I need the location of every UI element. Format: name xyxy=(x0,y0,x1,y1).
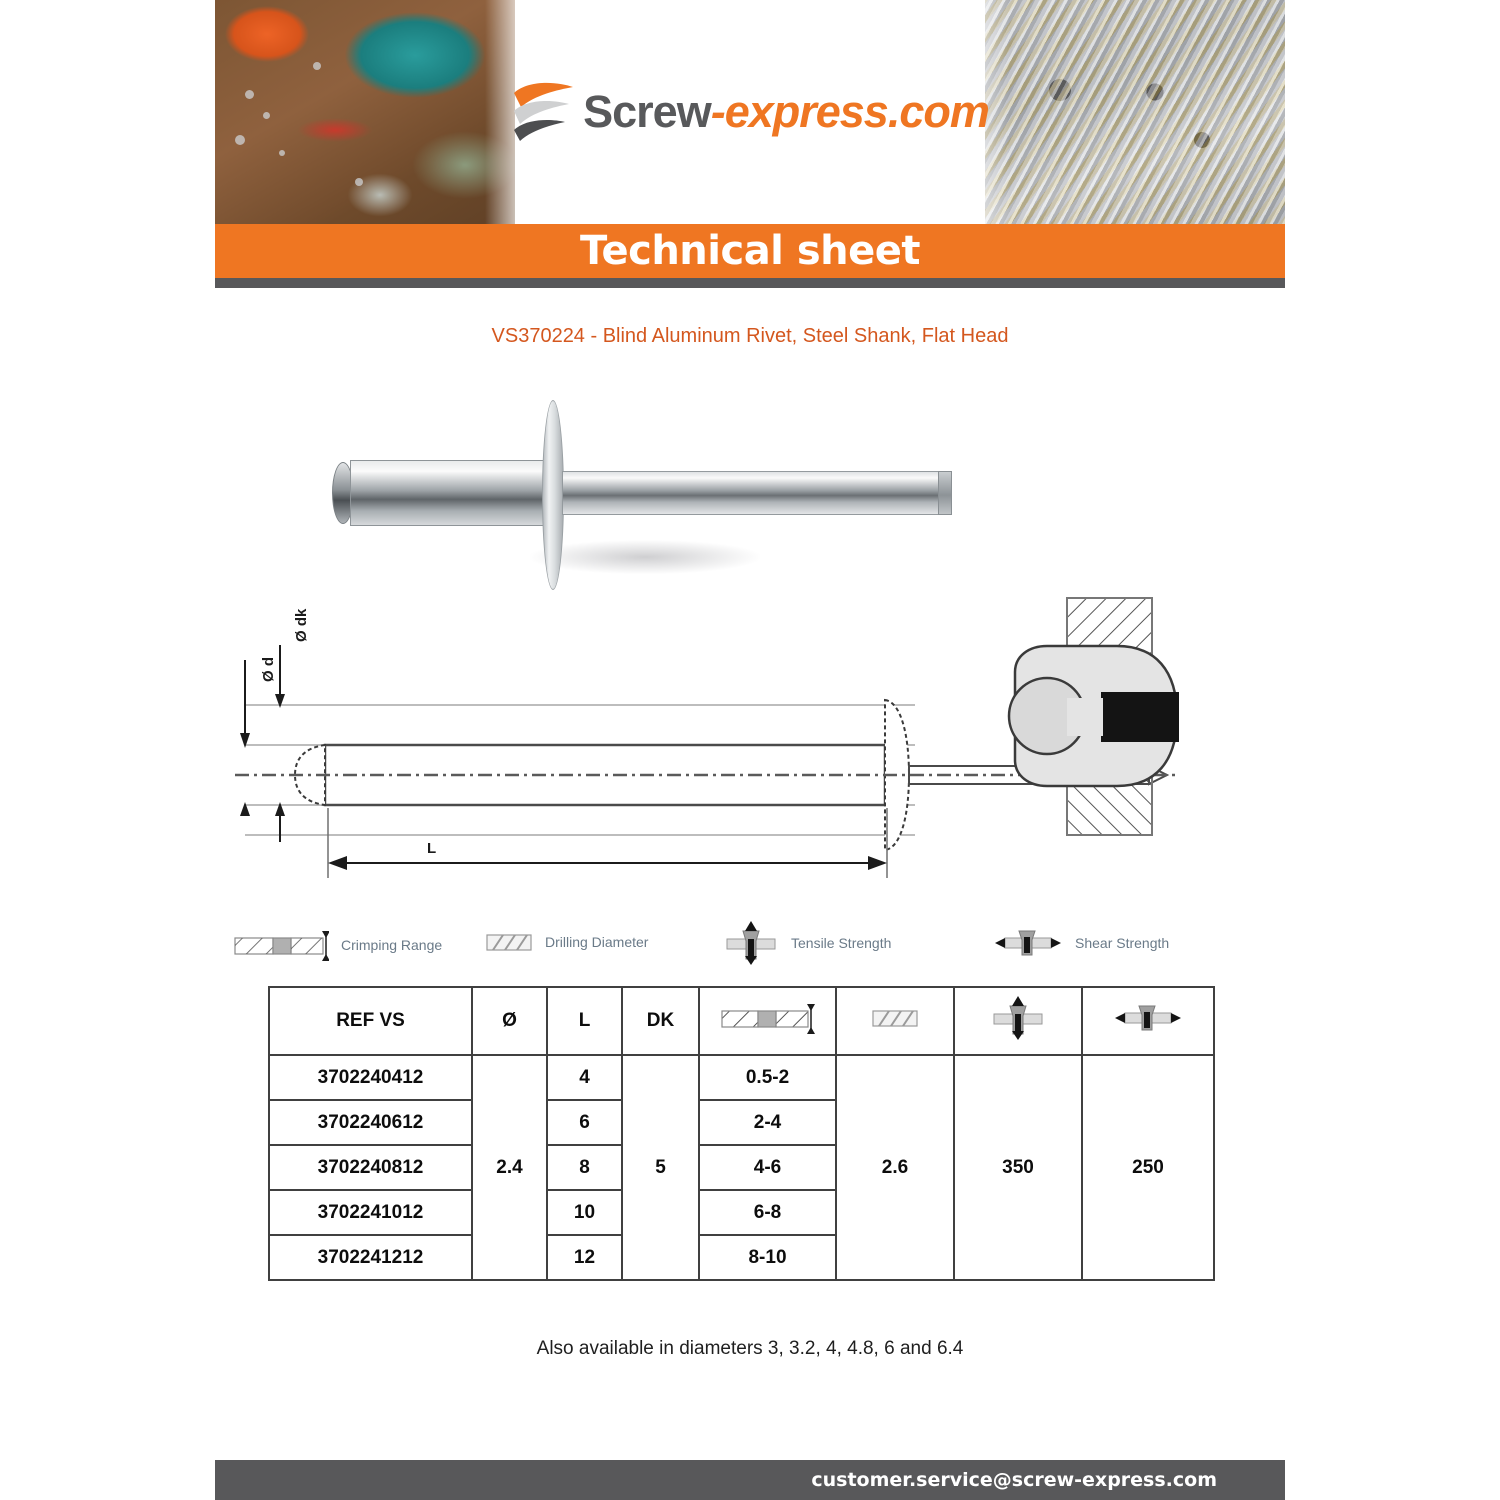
tensile-strength-icon xyxy=(990,994,1046,1042)
table-row: 3702240412 2.4 4 5 0.5-2 2.6 350 250 xyxy=(269,1055,1214,1100)
cell-crimping: 0.5-2 xyxy=(699,1055,836,1100)
cell-ref: 3702240812 xyxy=(269,1145,472,1190)
column-header-crimping-range xyxy=(699,987,836,1055)
cell-dk: 5 xyxy=(622,1055,699,1280)
swoosh-logo-icon xyxy=(511,81,577,143)
legend-item-shear-strength: Shear Strength xyxy=(993,925,1169,961)
cell-ref: 3702241212 xyxy=(269,1235,472,1280)
tensile-strength-icon xyxy=(723,919,779,967)
column-header-shear-strength xyxy=(1082,987,1214,1055)
banner-underbar xyxy=(215,278,1285,288)
cell-tensile: 350 xyxy=(954,1055,1082,1280)
crimping-range-icon xyxy=(720,1000,816,1036)
cell-drilling: 2.6 xyxy=(836,1055,954,1280)
legend-row: Crimping Range Drilling Diameter Tensile… xyxy=(215,915,1285,971)
logo[interactable]: Screw-express.com xyxy=(515,0,985,224)
legend-item-crimping-range: Crimping Range xyxy=(233,927,442,963)
specification-table: REF VS Ø L DK xyxy=(268,986,1215,1281)
availability-note: Also available in diameters 3, 3.2, 4, 4… xyxy=(215,1338,1285,1360)
screws-photo xyxy=(940,0,1285,224)
drilling-diameter-icon xyxy=(485,927,533,957)
column-header-drilling-diameter xyxy=(836,987,954,1055)
legend-label-crimping-range: Crimping Range xyxy=(341,937,442,953)
technical-sheet-page: Screw-express.com Technical sheet VS3702… xyxy=(215,0,1285,1500)
column-header-tensile-strength xyxy=(954,987,1082,1055)
legend-label-tensile-strength: Tensile Strength xyxy=(791,935,891,951)
cell-ref: 3702240612 xyxy=(269,1100,472,1145)
product-title: VS370224 - Blind Aluminum Rivet, Steel S… xyxy=(215,325,1285,348)
footer-email[interactable]: customer.service@screw-express.com xyxy=(811,1469,1217,1491)
logo-text-dark: Screw xyxy=(583,86,711,137)
cell-diameter: 2.4 xyxy=(472,1055,547,1280)
technical-drawing: Ø d Ø dk L xyxy=(215,590,1285,910)
crimping-range-icon xyxy=(233,927,329,963)
cell-ref: 3702241012 xyxy=(269,1190,472,1235)
workbench-photo xyxy=(215,0,545,224)
cell-length: 6 xyxy=(547,1100,622,1145)
cell-crimping: 2-4 xyxy=(699,1100,836,1145)
cell-length: 10 xyxy=(547,1190,622,1235)
column-header-dk: DK xyxy=(622,987,699,1055)
cell-crimping: 6-8 xyxy=(699,1190,836,1235)
column-header-diameter: Ø xyxy=(472,987,547,1055)
footer-bar: customer.service@screw-express.com xyxy=(215,1460,1285,1500)
shear-strength-icon xyxy=(993,925,1063,961)
cell-crimping: 8-10 xyxy=(699,1235,836,1280)
header-banner: Screw-express.com xyxy=(215,0,1285,224)
cell-shear: 250 xyxy=(1082,1055,1214,1280)
drilling-diameter-icon xyxy=(871,1003,919,1033)
logo-text-orange: -express.com xyxy=(711,86,989,137)
technical-sheet-banner: Technical sheet xyxy=(215,224,1285,278)
product-photo xyxy=(290,380,1050,610)
cell-length: 12 xyxy=(547,1235,622,1280)
cell-length: 4 xyxy=(547,1055,622,1100)
cell-ref: 3702240412 xyxy=(269,1055,472,1100)
column-header-ref: REF VS xyxy=(269,987,472,1055)
rivet-cross-section-diagram xyxy=(1005,580,1235,850)
table-header-row: REF VS Ø L DK xyxy=(269,987,1214,1055)
legend-item-tensile-strength: Tensile Strength xyxy=(723,919,891,967)
banner-title: Technical sheet xyxy=(580,228,920,274)
legend-item-drilling-diameter: Drilling Diameter xyxy=(485,927,648,957)
legend-label-shear-strength: Shear Strength xyxy=(1075,935,1169,951)
column-header-length: L xyxy=(547,987,622,1055)
legend-label-drilling-diameter: Drilling Diameter xyxy=(545,934,648,950)
cell-length: 8 xyxy=(547,1145,622,1190)
shear-strength-icon xyxy=(1113,1000,1183,1036)
cell-crimping: 4-6 xyxy=(699,1145,836,1190)
